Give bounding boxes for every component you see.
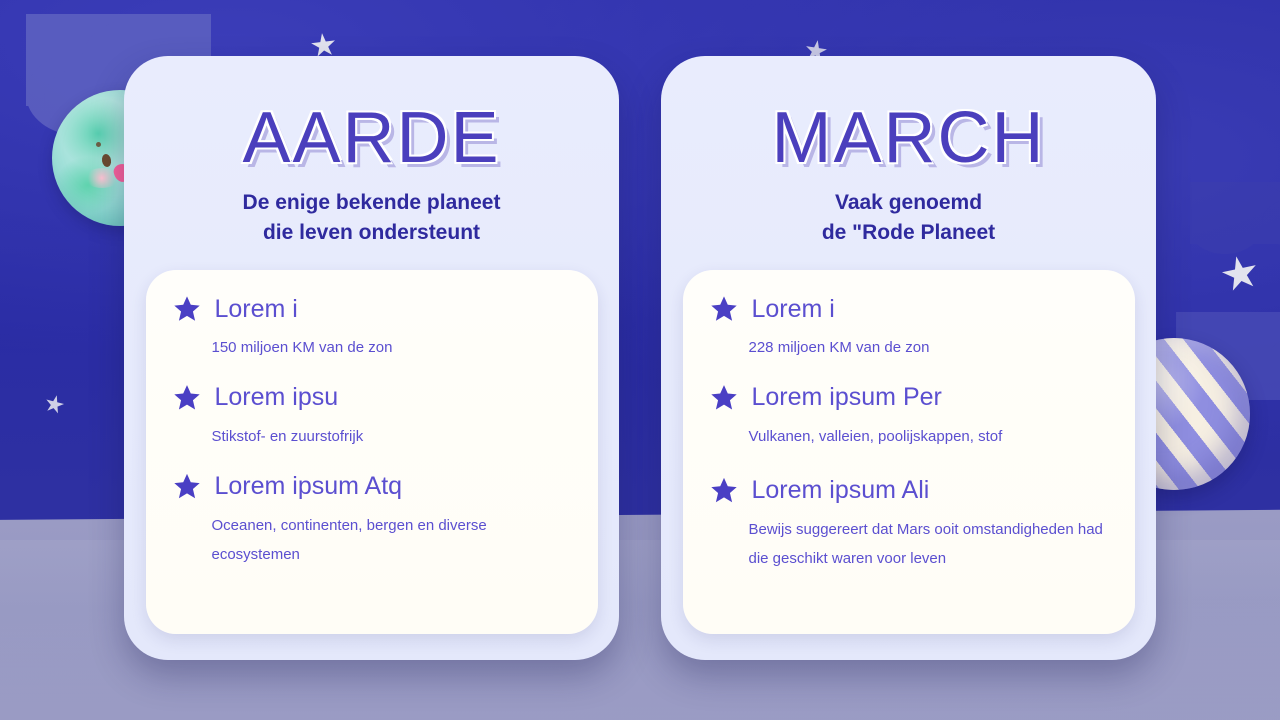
list-item-title: Lorem ipsum Per bbox=[752, 384, 942, 412]
card-subtitle-line-1: De enige bekende planeet bbox=[243, 188, 501, 218]
list-item[interactable]: Lorem ipsum Atq Oceanen, continenten, be… bbox=[174, 473, 570, 569]
card-subtitle-line-2: de "Rode Planeet bbox=[822, 218, 995, 248]
list-item-title: Lorem i bbox=[215, 296, 298, 324]
feature-panel-march: Lorem i 228 miljoen KM van de zon Lorem … bbox=[683, 270, 1135, 634]
list-item-title: Lorem i bbox=[752, 296, 835, 324]
list-item-description: 228 miljoen KM van de zon bbox=[749, 333, 1107, 362]
star-bullet-icon bbox=[174, 296, 201, 323]
star-bullet-icon bbox=[174, 385, 201, 412]
slide-canvas: AARDE De enige bekende planeet die leven… bbox=[0, 0, 1280, 720]
list-item[interactable]: Lorem i 150 miljoen KM van de zon bbox=[174, 296, 570, 363]
card-subtitle-aarde: De enige bekende planeet die leven onder… bbox=[243, 188, 501, 248]
card-title-aarde: AARDE bbox=[242, 102, 500, 174]
feature-panel-aarde: Lorem i 150 miljoen KM van de zon Lorem … bbox=[146, 270, 598, 634]
star-bullet-icon bbox=[711, 477, 738, 504]
list-item-description: Stikstof- en zuurstofrijk bbox=[212, 422, 570, 451]
list-item-description: Vulkanen, valleien, poolijskappen, stof bbox=[749, 422, 1107, 451]
list-item-title: Lorem ipsum Ali bbox=[752, 477, 930, 505]
card-subtitle-line-2: die leven ondersteunt bbox=[243, 218, 501, 248]
list-item-title: Lorem ipsum Atq bbox=[215, 473, 403, 501]
star-bullet-icon bbox=[711, 296, 738, 323]
list-item-description: Oceanen, continenten, bergen en diverse … bbox=[212, 511, 570, 570]
card-subtitle-line-1: Vaak genoemd bbox=[822, 188, 995, 218]
card-row: AARDE De enige bekende planeet die leven… bbox=[0, 0, 1280, 720]
list-item-description: Bewijs suggereert dat Mars ooit omstandi… bbox=[749, 515, 1107, 574]
list-item-description: 150 miljoen KM van de zon bbox=[212, 333, 570, 362]
card-march[interactable]: MARCH Vaak genoemd de "Rode Planeet Lore… bbox=[661, 56, 1156, 660]
list-item[interactable]: Lorem i 228 miljoen KM van de zon bbox=[711, 296, 1107, 363]
list-item[interactable]: Lorem ipsum Ali Bewijs suggereert dat Ma… bbox=[711, 477, 1107, 573]
star-bullet-icon bbox=[711, 385, 738, 412]
star-bullet-icon bbox=[174, 473, 201, 500]
list-item-title: Lorem ipsu bbox=[215, 384, 339, 412]
list-item[interactable]: Lorem ipsu Stikstof- en zuurstofrijk bbox=[174, 384, 570, 451]
list-item[interactable]: Lorem ipsum Per Vulkanen, valleien, pool… bbox=[711, 384, 1107, 451]
card-aarde[interactable]: AARDE De enige bekende planeet die leven… bbox=[124, 56, 619, 660]
card-subtitle-march: Vaak genoemd de "Rode Planeet bbox=[822, 188, 995, 248]
card-title-march: MARCH bbox=[772, 102, 1046, 174]
